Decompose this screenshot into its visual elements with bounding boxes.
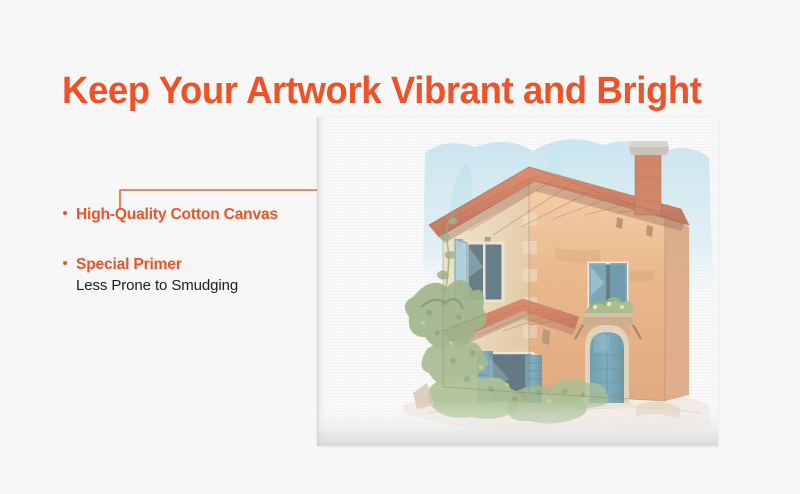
slide-root: Keep Your Artwork Vibrant and Bright Hig…	[0, 0, 800, 494]
bullet-dot-icon	[63, 261, 67, 265]
canvas-artwork-preview	[317, 117, 718, 446]
feature-title: High-Quality Cotton Canvas	[76, 206, 278, 224]
feature-title: Special Primer	[76, 256, 182, 274]
watercolor-house-painting	[317, 117, 718, 446]
page-title: Keep Your Artwork Vibrant and Bright	[62, 69, 734, 113]
bullet-dot-icon	[63, 211, 67, 215]
